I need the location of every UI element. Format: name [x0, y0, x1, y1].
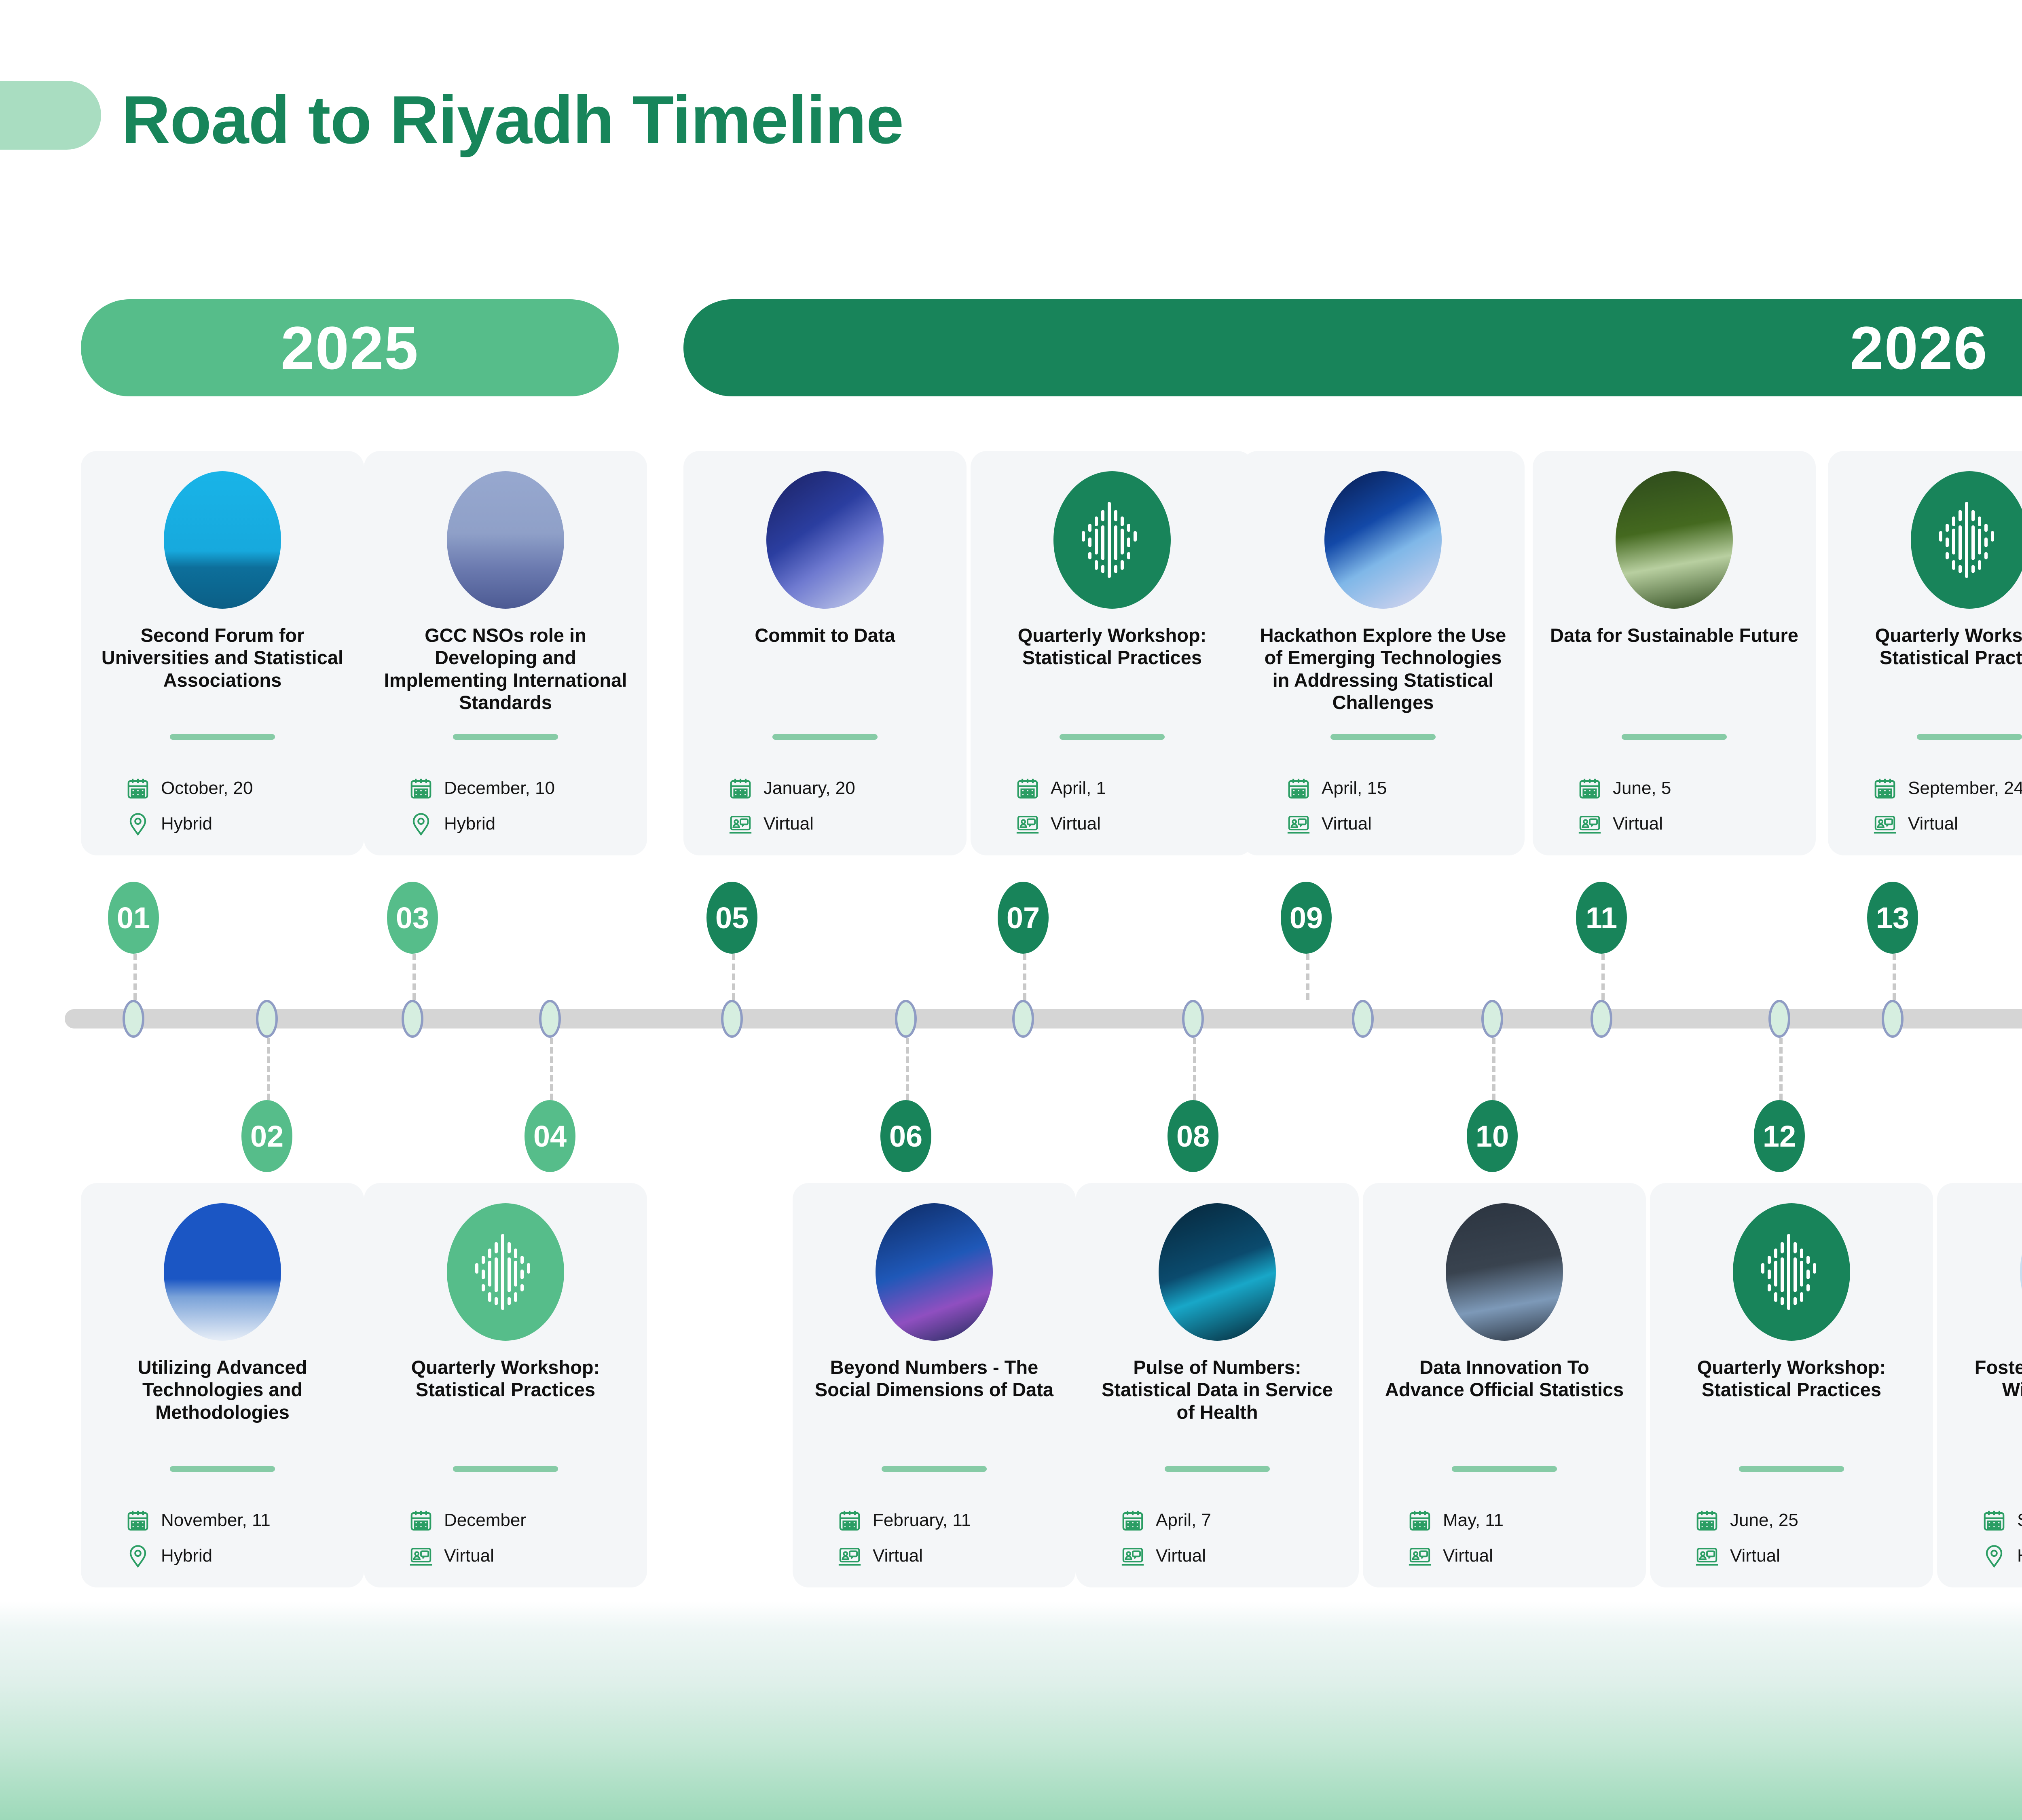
emblem-bar	[1761, 1263, 1764, 1274]
event-card-title-01: Second Forum for Universities and Statis…	[97, 624, 348, 691]
event-card-03[interactable]: GCC NSOs role in Developing and Implemen…	[364, 451, 647, 855]
event-card-image-03	[447, 471, 564, 609]
event-card-12[interactable]: Quarterly Workshop: Statistical Practice…	[1650, 1183, 1933, 1587]
emblem-bar	[508, 1297, 511, 1305]
event-card-title-05: Commit to Data	[700, 624, 950, 646]
timeline-badge-08[interactable]: 08	[1168, 1100, 1218, 1172]
emblem-bar	[1959, 510, 1962, 521]
event-mode-row: Virtual	[837, 1538, 1047, 1574]
event-date-row: April, 7	[1120, 1503, 1330, 1538]
emblem-bar	[488, 1261, 491, 1287]
event-date-row: June, 5	[1577, 770, 1787, 806]
timeline-connector-01	[133, 954, 137, 1000]
event-date-row: October, 20	[125, 770, 336, 806]
event-card-divider	[1452, 1466, 1557, 1472]
emblem-bar	[475, 1263, 478, 1274]
event-mode-row: Virtual	[408, 1538, 619, 1574]
calendar-icon	[125, 776, 150, 801]
event-card-divider	[1165, 1466, 1270, 1472]
virtual-laptop-icon	[1694, 1543, 1720, 1568]
event-mode-text: Hybrid	[161, 1546, 212, 1566]
event-mode-text: Virtual	[1730, 1546, 1780, 1566]
event-mode-row: Virtual	[728, 806, 938, 842]
emblem-bar	[482, 1256, 485, 1264]
infographic-canvas: Road to Riyadh Timeline عاماً Y E A R S …	[0, 0, 2022, 1820]
gastat-emblem-icon	[1053, 471, 1171, 609]
emblem-bar	[495, 1297, 498, 1305]
timeline-badge-03[interactable]: 03	[387, 882, 438, 954]
event-card-title-03: GCC NSOs role in Developing and Implemen…	[380, 624, 631, 714]
timeline-connector-05	[732, 954, 735, 1000]
event-card-meta-06: February, 11 Virtual	[837, 1503, 1047, 1574]
emblem-bar	[1952, 516, 1955, 526]
timeline-node-1[interactable]	[123, 1000, 144, 1038]
emblem-bar	[1121, 529, 1124, 554]
photo-hand-globe-sustainability	[1616, 471, 1733, 609]
emblem-bar	[508, 1242, 511, 1253]
emblem-bar	[1794, 1257, 1797, 1292]
event-card-meta-10: May, 11 Virtual	[1407, 1503, 1618, 1574]
event-card-title-08: Pulse of Numbers: Statistical Data in Se…	[1092, 1356, 1343, 1423]
emblem-bar	[488, 1249, 491, 1258]
calendar-icon	[408, 1508, 434, 1533]
event-card-image-06	[876, 1203, 993, 1341]
calendar-icon	[1694, 1508, 1720, 1533]
emblem-bar	[1984, 538, 1988, 547]
timeline-axis	[65, 1009, 2022, 1029]
event-card-divider	[1739, 1466, 1844, 1472]
event-card-title-14: Fostering Partnerships Within Statistica…	[1953, 1356, 2022, 1423]
gastat-emblem-icon	[1733, 1203, 1850, 1341]
timeline-badge-10[interactable]: 10	[1467, 1100, 1518, 1172]
emblem-bar	[1121, 516, 1124, 526]
event-date-text: February, 11	[873, 1510, 971, 1530]
timeline-badge-02[interactable]: 02	[241, 1100, 292, 1172]
event-card-meta-11: June, 5 Virtual	[1577, 770, 1787, 842]
photo-chalkboard-chart-hand	[1446, 1203, 1563, 1341]
event-card-meta-04: December Virtual	[408, 1503, 619, 1574]
event-mode-row: Hybrid	[408, 806, 619, 842]
year-banner-2026: 2026	[683, 299, 2022, 396]
calendar-icon	[125, 1508, 150, 1533]
emblem-bar	[1800, 1261, 1803, 1287]
photo-forum-blue-stage	[164, 471, 281, 609]
event-card-image-14	[2020, 1203, 2022, 1341]
emblem-bar	[1781, 1257, 1784, 1292]
event-card-image-12	[1733, 1203, 1850, 1341]
event-card-title-12: Quarterly Workshop: Statistical Practice…	[1666, 1356, 1917, 1401]
gastat-emblem-icon	[447, 1203, 564, 1341]
event-card-title-02: Utilizing Advanced Technologies and Meth…	[97, 1356, 348, 1423]
photo-women-in-data-stage	[876, 1203, 993, 1341]
timeline-badge-11[interactable]: 11	[1576, 882, 1627, 954]
event-card-image-10	[1446, 1203, 1563, 1341]
event-mode-text: Hybrid	[161, 814, 212, 834]
calendar-icon	[1407, 1508, 1432, 1533]
emblem-bar	[1978, 529, 1981, 554]
timeline-connector-07	[1023, 954, 1026, 1000]
timeline-connector-10	[1492, 1038, 1495, 1100]
event-date-row: April, 1	[1015, 770, 1225, 806]
location-pin-icon	[1982, 1543, 2007, 1568]
event-card-05[interactable]: Commit to Data January, 20 Virtual	[683, 451, 967, 855]
emblem-bar	[1959, 525, 1962, 560]
title-accent-pill	[0, 81, 101, 150]
event-card-title-09: Hackathon Explore the Use of Emerging Te…	[1258, 624, 1508, 714]
emblem-bar	[1813, 1263, 1816, 1274]
event-mode-text: Hybrid	[444, 814, 495, 834]
event-date-row: December, 10	[408, 770, 619, 806]
emblem-bar	[482, 1284, 485, 1291]
virtual-laptop-icon	[1407, 1543, 1432, 1568]
event-card-image-07	[1053, 471, 1171, 609]
event-card-image-11	[1616, 471, 1733, 609]
event-card-08[interactable]: Pulse of Numbers: Statistical Data in Se…	[1076, 1183, 1359, 1587]
event-card-13[interactable]: Quarterly Workshop: Statistical Practice…	[1828, 451, 2022, 855]
event-card-14[interactable]: Fostering Partnerships Within Statistica…	[1937, 1183, 2022, 1587]
calendar-icon	[408, 776, 434, 801]
emblem-bar	[1794, 1297, 1797, 1305]
emblem-bar	[1082, 531, 1085, 542]
emblem-bar	[1774, 1249, 1777, 1258]
emblem-bar	[1768, 1284, 1771, 1291]
event-mode-text: Virtual	[873, 1546, 923, 1566]
event-card-meta-01: October, 20 Hybrid	[125, 770, 336, 842]
emblem-bar	[1088, 524, 1091, 532]
event-card-01[interactable]: Second Forum for Universities and Statis…	[81, 451, 364, 855]
emblem-bar	[1101, 525, 1104, 560]
event-card-divider	[772, 734, 878, 740]
event-card-title-07: Quarterly Workshop: Statistical Practice…	[987, 624, 1237, 669]
event-card-meta-07: April, 1 Virtual	[1015, 770, 1225, 842]
emblem-bar	[1939, 531, 1942, 542]
timeline-node-4[interactable]	[539, 1000, 561, 1038]
gastat-emblem-icon	[1911, 471, 2022, 609]
event-card-image-04	[447, 1203, 564, 1341]
timeline-node-6[interactable]	[895, 1000, 917, 1038]
timeline-badge-09[interactable]: 09	[1281, 882, 1332, 954]
event-mode-row: Hybrid	[125, 1538, 336, 1574]
emblem-bar	[1800, 1292, 1803, 1302]
event-card-title-11: Data for Sustainable Future	[1549, 624, 1800, 646]
event-card-09[interactable]: Hackathon Explore the Use of Emerging Te…	[1242, 451, 1525, 855]
timeline-connector-08	[1193, 1038, 1196, 1100]
virtual-laptop-icon	[1577, 811, 1602, 836]
event-date-row: April, 15	[1286, 770, 1496, 806]
emblem-bar	[1806, 1284, 1810, 1291]
emblem-bar	[1114, 525, 1117, 560]
emblem-bar	[1121, 560, 1124, 570]
timeline-connector-02	[267, 1038, 270, 1100]
emblem-bar	[1978, 560, 1981, 570]
timeline-connector-09	[1306, 954, 1309, 1000]
virtual-laptop-icon	[408, 1543, 434, 1568]
calendar-icon	[837, 1508, 862, 1533]
emblem-bar	[1946, 524, 1949, 532]
emblem-bar	[1101, 565, 1104, 573]
emblem-bar	[1114, 510, 1117, 521]
emblem-bar	[1095, 516, 1098, 526]
event-mode-text: Virtual	[1156, 1546, 1206, 1566]
event-card-title-04: Quarterly Workshop: Statistical Practice…	[380, 1356, 631, 1401]
timeline-badge-07[interactable]: 07	[998, 882, 1049, 954]
timeline-node-7[interactable]	[1012, 1000, 1034, 1038]
emblem-bar	[1088, 538, 1091, 547]
event-card-divider	[882, 1466, 987, 1472]
emblem-bar	[1101, 510, 1104, 521]
event-mode-row: Virtual	[1694, 1538, 1905, 1574]
timeline-node-13[interactable]	[1882, 1000, 1904, 1038]
event-mode-row: Virtual	[1872, 806, 2022, 842]
emblem-bar	[514, 1292, 517, 1302]
timeline-connector-04	[550, 1038, 553, 1100]
event-card-image-09	[1324, 471, 1442, 609]
timeline-node-5[interactable]	[721, 1000, 743, 1038]
emblem-bar	[1088, 552, 1091, 559]
timeline-badge-04[interactable]: 04	[525, 1100, 575, 1172]
event-card-04[interactable]: Quarterly Workshop: Statistical Practice…	[364, 1183, 647, 1587]
event-mode-row: Hybrid	[125, 806, 336, 842]
event-mode-text: Virtual	[444, 1546, 494, 1566]
event-date-row: June, 25	[1694, 1503, 1905, 1538]
calendar-icon	[1982, 1508, 2007, 1533]
timeline-connector-13	[1893, 954, 1896, 1000]
calendar-icon	[728, 776, 753, 801]
calendar-icon	[1286, 776, 1311, 801]
event-date-row: September, 30	[1982, 1503, 2022, 1538]
event-card-11[interactable]: Data for Sustainable Future June, 5 Virt…	[1533, 451, 1816, 855]
emblem-bar	[1971, 510, 1975, 521]
emblem-bar	[1806, 1256, 1810, 1264]
emblem-bar	[514, 1249, 517, 1258]
event-card-meta-08: April, 7 Virtual	[1120, 1503, 1330, 1574]
event-mode-row: Virtual	[1015, 806, 1225, 842]
event-date-text: October, 20	[161, 778, 253, 798]
page-title: Road to Riyadh Timeline	[121, 81, 903, 159]
timeline-badge-06[interactable]: 06	[880, 1100, 931, 1172]
event-date-row: September, 24	[1872, 770, 2022, 806]
timeline-connector-06	[906, 1038, 909, 1100]
event-card-divider	[1622, 734, 1727, 740]
event-card-meta-13: September, 24 Virtual	[1872, 770, 2022, 842]
emblem-bar	[501, 1234, 504, 1310]
emblem-bar	[1768, 1270, 1771, 1279]
event-date-text: September, 24	[1908, 778, 2022, 798]
emblem-bar	[488, 1292, 491, 1302]
emblem-bar	[1787, 1234, 1790, 1310]
event-date-text: January, 20	[764, 778, 855, 798]
event-mode-row: Virtual	[1286, 806, 1496, 842]
emblem-bar	[1946, 552, 1949, 559]
event-mode-text: Virtual	[1613, 814, 1663, 834]
emblem-bar	[520, 1270, 524, 1279]
emblem-bar	[1781, 1297, 1784, 1305]
event-date-text: September, 30	[2017, 1510, 2022, 1530]
event-card-divider	[453, 734, 558, 740]
emblem-bar	[520, 1256, 524, 1264]
virtual-laptop-icon	[1286, 811, 1311, 836]
event-card-image-08	[1159, 1203, 1276, 1341]
emblem-bar	[1965, 502, 1968, 578]
emblem-bar	[1952, 529, 1955, 554]
event-mode-text: Virtual	[1443, 1546, 1493, 1566]
event-mode-row: Virtual	[1407, 1538, 1618, 1574]
emblem-bar	[1768, 1256, 1771, 1264]
virtual-laptop-icon	[1015, 811, 1040, 836]
photo-panel-discussion	[164, 1203, 281, 1341]
event-mode-row: Hybrid	[1982, 1538, 2022, 1574]
photo-heartbeat-waveform	[1159, 1203, 1276, 1341]
emblem-bar	[1127, 538, 1130, 547]
timeline-badge-01[interactable]: 01	[108, 882, 159, 954]
emblem-bar	[520, 1284, 524, 1291]
event-card-image-13	[1911, 471, 2022, 609]
location-pin-icon	[408, 811, 434, 836]
photo-vr-hackathon	[1324, 471, 1442, 609]
emblem-bar	[1978, 516, 1981, 526]
event-date-text: December, 10	[444, 778, 555, 798]
timeline-badge-05[interactable]: 05	[706, 882, 757, 954]
event-date-text: April, 15	[1322, 778, 1387, 798]
event-date-text: April, 7	[1156, 1510, 1211, 1530]
emblem-bar	[1108, 502, 1111, 578]
emblem-bar	[1095, 529, 1098, 554]
photo-gcc-group	[447, 471, 564, 609]
location-pin-icon	[125, 811, 150, 836]
timeline-node-10[interactable]	[1481, 1000, 1503, 1038]
event-card-06[interactable]: Beyond Numbers - The Social Dimensions o…	[793, 1183, 1076, 1587]
event-mode-text: Virtual	[764, 814, 814, 834]
emblem-bar	[508, 1257, 511, 1292]
emblem-bar	[1774, 1261, 1777, 1287]
emblem-bar	[1984, 552, 1988, 559]
event-date-row: February, 11	[837, 1503, 1047, 1538]
virtual-laptop-icon	[837, 1543, 862, 1568]
emblem-bar	[1971, 525, 1975, 560]
emblem-bar	[1134, 531, 1137, 542]
event-date-row: November, 11	[125, 1503, 336, 1538]
emblem-bar	[1946, 538, 1949, 547]
virtual-laptop-icon	[1872, 811, 1897, 836]
emblem-bar	[1781, 1242, 1784, 1253]
timeline-node-8[interactable]	[1182, 1000, 1204, 1038]
location-pin-icon	[125, 1543, 150, 1568]
event-mode-text: Virtual	[1908, 814, 1958, 834]
timeline-node-3[interactable]	[402, 1000, 423, 1038]
event-date-text: April, 1	[1051, 778, 1106, 798]
event-card-meta-05: January, 20 Virtual	[728, 770, 938, 842]
event-date-text: May, 11	[1443, 1510, 1504, 1530]
event-date-text: June, 25	[1730, 1510, 1798, 1530]
event-card-07[interactable]: Quarterly Workshop: Statistical Practice…	[971, 451, 1254, 855]
emblem-bar	[1991, 531, 1994, 542]
emblem-bar	[514, 1261, 517, 1287]
event-card-meta-14: September, 30 Hybrid	[1982, 1503, 2022, 1574]
emblem-bar	[527, 1263, 530, 1274]
event-card-title-06: Beyond Numbers - The Social Dimensions o…	[809, 1356, 1060, 1401]
emblem-bar	[495, 1257, 498, 1292]
page-header: Road to Riyadh Timeline عاماً Y E A R S …	[0, 0, 2022, 226]
timeline-node-2[interactable]	[256, 1000, 278, 1038]
emblem-bar	[1127, 524, 1130, 532]
timeline-badge-12[interactable]: 12	[1754, 1100, 1805, 1172]
calendar-icon	[1577, 776, 1602, 801]
event-card-divider	[170, 734, 275, 740]
event-card-10[interactable]: Data Innovation To Advance Official Stat…	[1363, 1183, 1646, 1587]
timeline-node-12[interactable]	[1768, 1000, 1790, 1038]
event-mode-row: Virtual	[1120, 1538, 1330, 1574]
emblem-bar	[1794, 1242, 1797, 1253]
event-card-title-10: Data Innovation To Advance Official Stat…	[1379, 1356, 1630, 1401]
emblem-bar	[495, 1242, 498, 1253]
emblem-bar	[1114, 565, 1117, 573]
event-mode-text: Virtual	[1051, 814, 1101, 834]
emblem-bar	[1959, 565, 1962, 573]
event-card-meta-12: June, 25 Virtual	[1694, 1503, 1905, 1574]
event-card-02[interactable]: Utilizing Advanced Technologies and Meth…	[81, 1183, 364, 1587]
timeline-node-11[interactable]	[1591, 1000, 1612, 1038]
virtual-laptop-icon	[728, 811, 753, 836]
emblem-bar	[1971, 565, 1975, 573]
year-banner-2025: 2025	[81, 299, 619, 396]
event-date-text: December	[444, 1510, 526, 1530]
event-card-divider	[1330, 734, 1436, 740]
timeline-connector-11	[1601, 954, 1605, 1000]
virtual-laptop-icon	[1120, 1543, 1145, 1568]
event-mode-text: Hybrid	[2017, 1546, 2022, 1566]
emblem-bar	[1095, 560, 1098, 570]
event-card-divider	[453, 1466, 558, 1472]
event-card-divider	[170, 1466, 275, 1472]
event-date-text: November, 11	[161, 1510, 271, 1530]
event-mode-text: Virtual	[1322, 814, 1372, 834]
event-date-row: January, 20	[728, 770, 938, 806]
emblem-bar	[1806, 1270, 1810, 1279]
emblem-bar	[1984, 524, 1988, 532]
event-card-meta-03: December, 10 Hybrid	[408, 770, 619, 842]
photo-hand-touch-data	[766, 471, 884, 609]
event-mode-row: Virtual	[1577, 806, 1787, 842]
timeline-badge-13[interactable]: 13	[1867, 882, 1918, 954]
event-card-divider	[1917, 734, 2022, 740]
event-date-text: June, 5	[1613, 778, 1671, 798]
calendar-icon	[1120, 1508, 1145, 1533]
timeline-connector-03	[412, 954, 416, 1000]
event-card-image-01	[164, 471, 281, 609]
event-card-image-02	[164, 1203, 281, 1341]
event-date-row: May, 11	[1407, 1503, 1618, 1538]
emblem-bar	[1800, 1249, 1803, 1258]
event-card-image-05	[766, 471, 884, 609]
event-card-meta-02: November, 11 Hybrid	[125, 1503, 336, 1574]
event-card-meta-09: April, 15 Virtual	[1286, 770, 1496, 842]
timeline-node-9[interactable]	[1352, 1000, 1374, 1038]
emblem-bar	[1952, 560, 1955, 570]
photo-sesric-2026-podium	[2020, 1203, 2022, 1341]
event-date-row: December	[408, 1503, 619, 1538]
calendar-icon	[1872, 776, 1897, 801]
calendar-icon	[1015, 776, 1040, 801]
emblem-bar	[482, 1270, 485, 1279]
emblem-bar	[1774, 1292, 1777, 1302]
event-card-divider	[1060, 734, 1165, 740]
event-card-title-13: Quarterly Workshop: Statistical Practice…	[1844, 624, 2022, 669]
emblem-bar	[1127, 552, 1130, 559]
timeline-connector-12	[1779, 1038, 1783, 1100]
